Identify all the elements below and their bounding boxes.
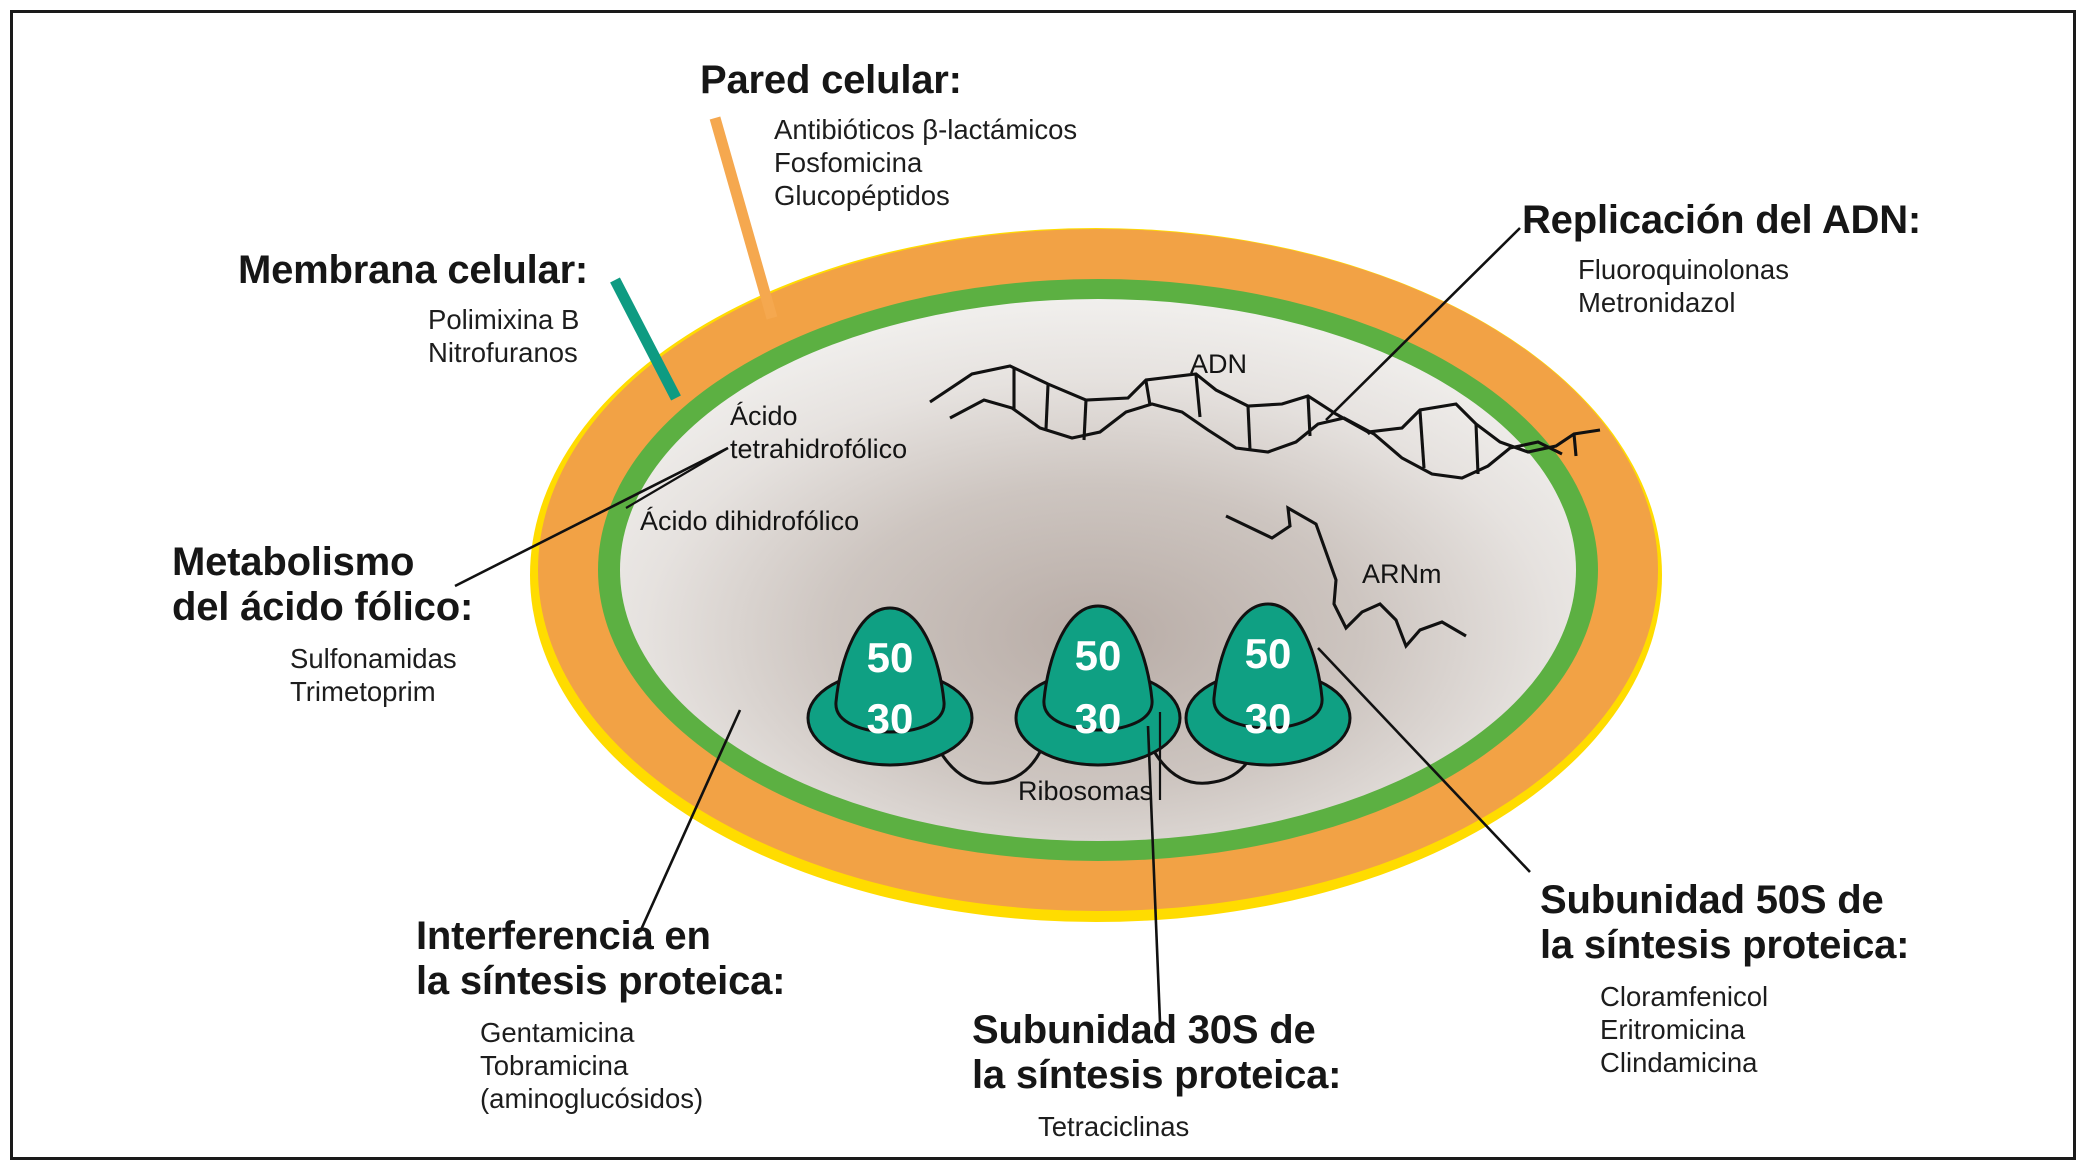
leader-subunidad-50s xyxy=(1318,648,1530,872)
leader-interferencia-sintesis xyxy=(640,710,740,932)
callout-drug-list: Polimixina B Nitrofuranos xyxy=(428,303,588,369)
callout-membrana-celular: Membrana celular: Polimixina B Nitrofura… xyxy=(238,248,588,369)
callout-pared-celular: Pared celular: Antibióticos β-lactámicos… xyxy=(700,58,1077,212)
callout-replicacion-adn: Replicación del ADN: Fluoroquinolonas Me… xyxy=(1522,198,1921,319)
callout-heading-line-1: Subunidad 50S de xyxy=(1540,878,1909,923)
callout-metabolismo-acido-folico: Metabolismo del ácido fólico: Sulfonamid… xyxy=(172,540,473,708)
callout-heading: Pared celular: xyxy=(700,58,1077,103)
callout-drug-list: Antibióticos β-lactámicos Fosfomicina Gl… xyxy=(774,113,1077,212)
label-acido-dihidrofolico: Ácido dihidrofólico xyxy=(640,505,859,538)
callout-heading-line-2: del ácido fólico: xyxy=(172,585,473,630)
callout-subunidad-50s: Subunidad 50S de la síntesis proteica: C… xyxy=(1540,878,1909,1079)
label-arnm: ARNm xyxy=(1362,558,1442,591)
leader-replicacion-adn xyxy=(1326,228,1520,420)
callout-drug-list: Fluoroquinolonas Metronidazol xyxy=(1578,253,1921,319)
callout-subunidad-30s: Subunidad 30S de la síntesis proteica: T… xyxy=(972,1008,1341,1143)
callout-drug-list: Tetraciclinas xyxy=(1038,1110,1341,1143)
callout-heading: Replicación del ADN: xyxy=(1522,198,1921,243)
leader-acido-tetrahidrofolico xyxy=(626,448,728,508)
callout-drug-list: Sulfonamidas Trimetoprim xyxy=(290,642,473,708)
diagram-stage: 50 30 50 30 50 30 xyxy=(0,0,2091,1175)
callout-drug-list: Gentamicina Tobramicina (aminoglucósidos… xyxy=(480,1016,785,1115)
callout-heading-line-2: la síntesis proteica: xyxy=(416,959,785,1004)
callout-interferencia-sintesis-proteica: Interferencia en la síntesis proteica: G… xyxy=(416,914,785,1115)
callout-heading-line-2: la síntesis proteica: xyxy=(1540,923,1909,968)
callout-heading-line-2: la síntesis proteica: xyxy=(972,1053,1341,1098)
callout-heading-line-1: Metabolismo xyxy=(172,540,473,585)
callout-drug-list: Cloramfenicol Eritromicina Clindamicina xyxy=(1600,980,1909,1079)
label-ribosomas: Ribosomas xyxy=(1018,775,1153,808)
callout-heading: Membrana celular: xyxy=(238,248,588,293)
callout-heading-line-1: Subunidad 30S de xyxy=(972,1008,1341,1053)
label-acido-tetrahidrofolico: Ácido tetrahidrofólico xyxy=(730,400,907,466)
leader-subunidad-30s xyxy=(1148,726,1160,1022)
callout-heading-line-1: Interferencia en xyxy=(416,914,785,959)
leader-membrana-celular xyxy=(615,280,676,398)
label-adn: ADN xyxy=(1190,348,1247,381)
